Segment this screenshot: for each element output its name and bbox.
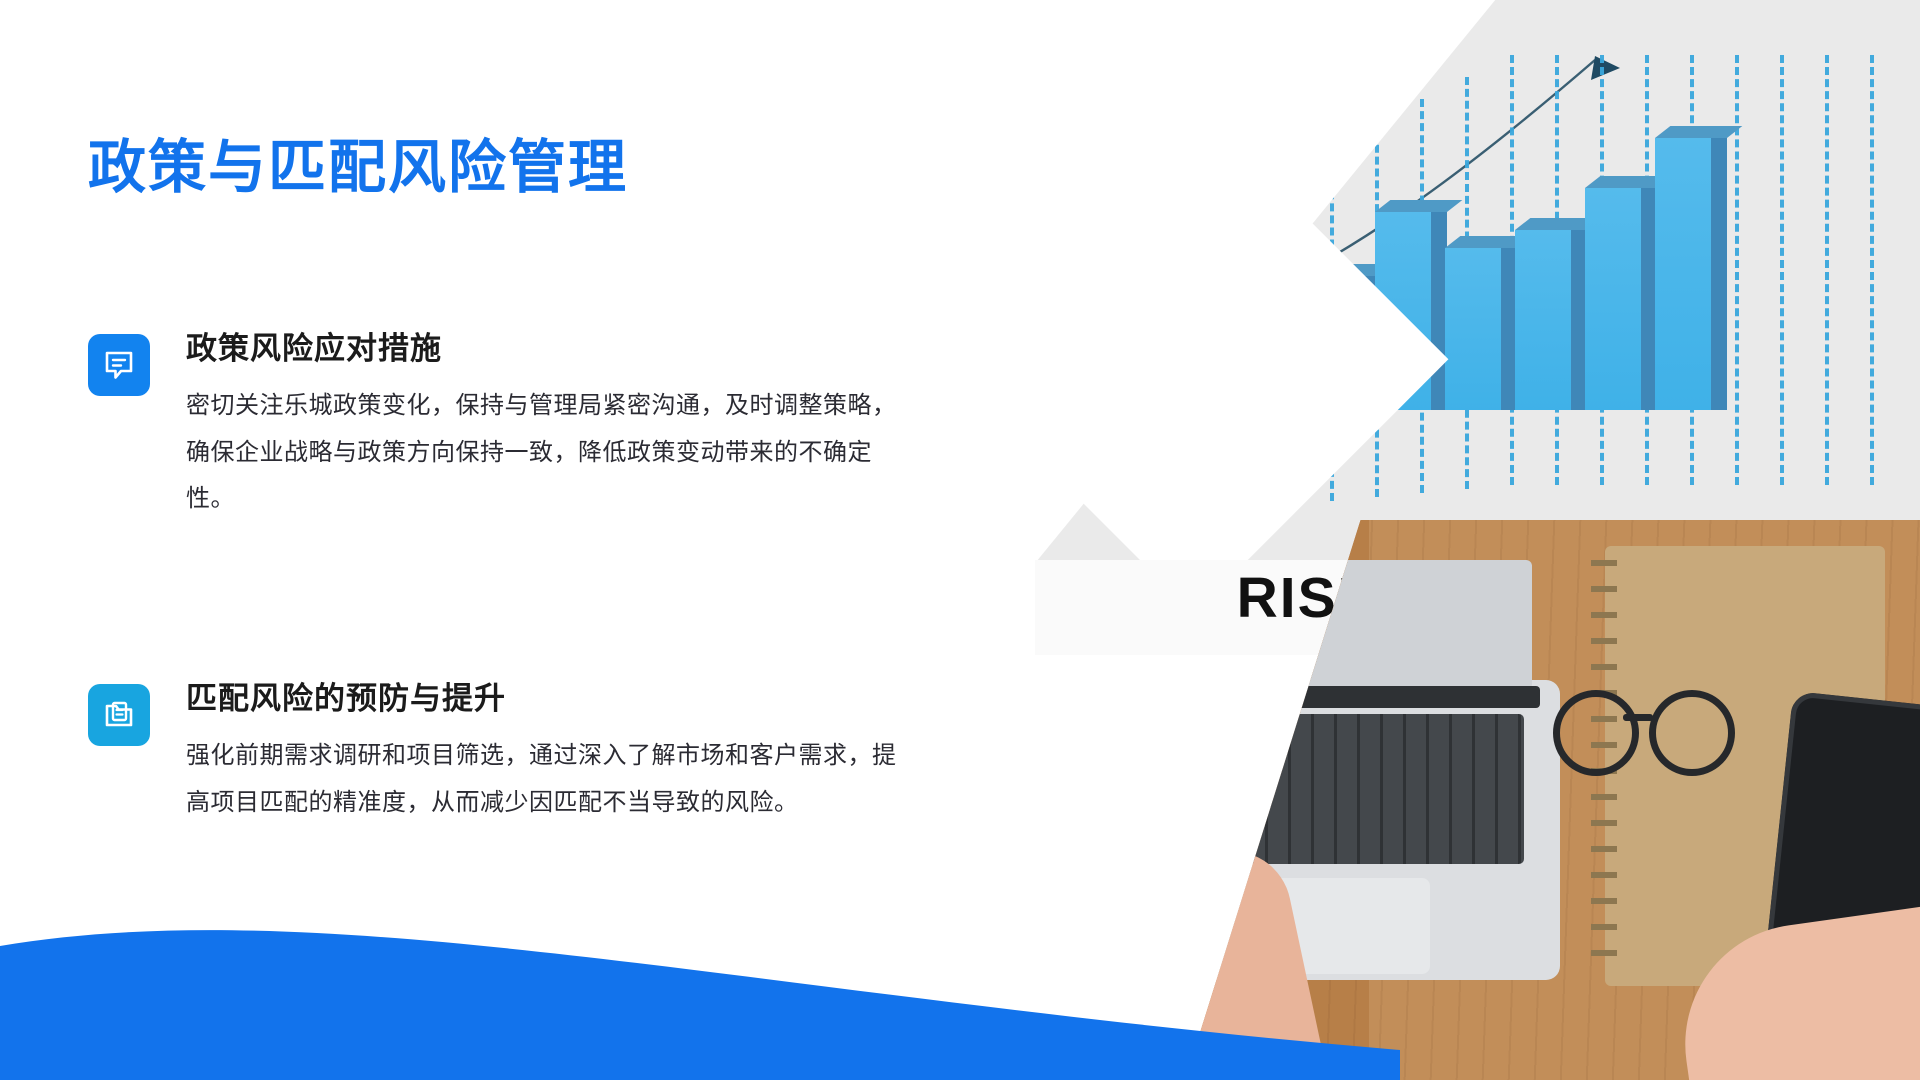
chat-bubble-icon: [88, 334, 150, 396]
chart-bar-top: [1655, 126, 1742, 138]
glasses-lens-left: [1553, 690, 1639, 776]
content-block-policy-risk: 政策风险应对措施 密切关注乐城政策变化，保持与管理局紧密沟通，及时调整策略，确保…: [88, 330, 948, 523]
chart-bar: [1585, 188, 1641, 410]
section-heading: 政策风险应对措施: [186, 330, 948, 369]
glasses-lens-right: [1649, 690, 1735, 776]
laptop-hinge: [1160, 686, 1540, 708]
content-block-body: 政策风险应对措施 密切关注乐城政策变化，保持与管理局紧密沟通，及时调整策略，确保…: [186, 330, 948, 523]
page-title: 政策与匹配风险管理: [88, 120, 628, 204]
chart-bar-top: [1375, 200, 1462, 212]
slide-root: 政策与匹配风险管理 政策风险应对措施 密切关注乐城政策变化，保持与管理局紧密沟通…: [0, 0, 1920, 1080]
section-paragraph: 强化前期需求调研和项目筛选，通过深入了解市场和客户需求，提高项目匹配的精准度，从…: [186, 733, 906, 827]
eyeglasses: [1553, 680, 1733, 776]
chart-gridline: [1870, 55, 1874, 485]
chart-gridline: [1825, 55, 1829, 485]
content-block-match-risk: 匹配风险的预防与提升 强化前期需求调研和项目筛选，通过深入了解市场和客户需求，提…: [88, 680, 948, 826]
chart-gridline: [1735, 55, 1739, 485]
chart-bar-face: [1655, 138, 1711, 410]
chart-gridline: [1780, 55, 1784, 485]
section-heading: 匹配风险的预防与提升: [186, 680, 948, 719]
glasses-bridge: [1623, 714, 1653, 721]
content-block-body: 匹配风险的预防与提升 强化前期需求调研和项目筛选，通过深入了解市场和客户需求，提…: [186, 680, 948, 826]
chart-bar: [1445, 248, 1501, 410]
section-paragraph: 密切关注乐城政策变化，保持与管理局紧密沟通，及时调整策略，确保企业战略与政策方向…: [186, 383, 906, 523]
bottom-wave-decoration: [0, 900, 1400, 1080]
laptop-keyboard: [1176, 714, 1524, 864]
chart-bar-face: [1515, 230, 1571, 410]
chart-bar-face: [1585, 188, 1641, 410]
chart-bar: [1655, 138, 1711, 410]
document-folder-icon: [88, 684, 150, 746]
chart-bar-face: [1445, 248, 1501, 410]
chart-bar: [1515, 230, 1571, 410]
chart-bar-side: [1711, 128, 1727, 410]
